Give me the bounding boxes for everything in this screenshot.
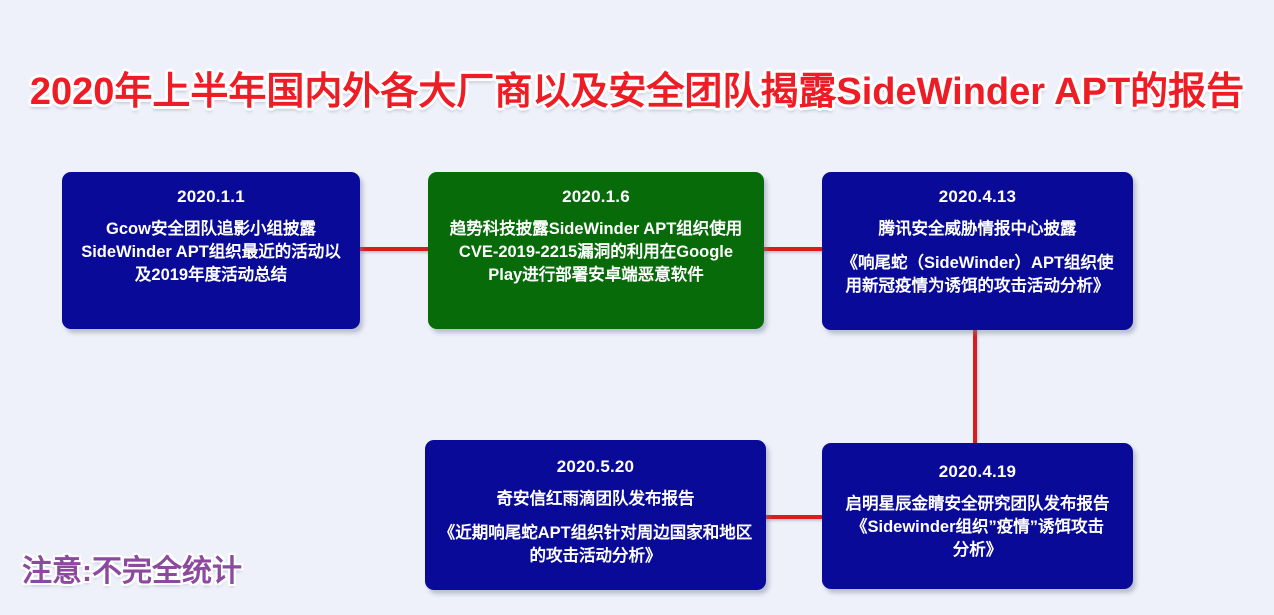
event-card-5[interactable]: 2020.5.20 奇安信红雨滴团队发布报告 《近期响尾蛇APT组织针对周边国家…: [425, 440, 766, 590]
event-spacer-5: [435, 511, 756, 522]
event-line-3-3: 用新冠疫情为诱饵的攻击活动分析》: [846, 277, 1110, 295]
footnote-disclaimer: 注意:不完全统计: [22, 552, 242, 592]
event-spacer-3: [832, 241, 1123, 252]
connector-event2-event3: [762, 247, 830, 251]
event-line-4-1: 启明星辰金睛安全研究团队发布报告: [846, 495, 1110, 513]
event-date-4: 2020.4.19: [832, 461, 1123, 483]
connector-event3-event4: [973, 328, 977, 444]
event-card-1[interactable]: 2020.1.1 Gcow安全团队追影小组披露 SideWinder APT组织…: [62, 172, 360, 329]
event-line-1-1: Gcow安全团队追影小组披露: [106, 220, 316, 238]
event-line-5-3: 的攻击活动分析》: [530, 547, 662, 565]
event-description-4: 启明星辰金睛安全研究团队发布报告 《Sidewinder组织”疫情”诱饵攻击 分…: [832, 493, 1123, 562]
event-description-2: 趋势科技披露SideWinder APT组织使用 CVE-2019-2215漏洞…: [438, 218, 754, 287]
event-date-5: 2020.5.20: [435, 456, 756, 478]
event-line-3-2: 《响尾蛇（SideWinder）APT组织使: [841, 254, 1113, 272]
event-card-4[interactable]: 2020.4.19 启明星辰金睛安全研究团队发布报告 《Sidewinder组织…: [822, 443, 1133, 589]
slide-canvas: 2020年上半年国内外各大厂商以及安全团队揭露SideWinder APT的报告…: [0, 0, 1274, 615]
event-card-3[interactable]: 2020.4.13 腾讯安全威胁情报中心披露 《响尾蛇（SideWinder）A…: [822, 172, 1133, 330]
event-line-2-3: Play进行部署安卓端恶意软件: [488, 266, 703, 284]
event-date-3: 2020.4.13: [832, 186, 1123, 208]
page-title: 2020年上半年国内外各大厂商以及安全团队揭露SideWinder APT的报告: [0, 68, 1274, 116]
event-description-1: Gcow安全团队追影小组披露 SideWinder APT组织最近的活动以 及2…: [72, 218, 350, 287]
event-description-5: 奇安信红雨滴团队发布报告 《近期响尾蛇APT组织针对周边国家和地区 的攻击活动分…: [435, 488, 756, 568]
event-line-5-1: 奇安信红雨滴团队发布报告: [497, 490, 695, 508]
connector-event1-event2: [358, 247, 430, 251]
event-line-2-2: CVE-2019-2215漏洞的利用在Google: [459, 243, 733, 261]
event-line-1-3: 及2019年度活动总结: [135, 266, 287, 284]
event-description-3: 腾讯安全威胁情报中心披露 《响尾蛇（SideWinder）APT组织使 用新冠疫…: [832, 218, 1123, 298]
connector-event4-event5: [762, 515, 824, 519]
event-line-5-2: 《近期响尾蛇APT组织针对周边国家和地区: [439, 524, 753, 542]
event-line-3-1: 腾讯安全威胁情报中心披露: [879, 220, 1077, 238]
event-line-1-2: SideWinder APT组织最近的活动以: [81, 243, 341, 261]
event-line-2-1: 趋势科技披露SideWinder APT组织使用: [450, 220, 743, 238]
event-date-1: 2020.1.1: [72, 186, 350, 208]
event-date-2: 2020.1.6: [438, 186, 754, 208]
event-card-2[interactable]: 2020.1.6 趋势科技披露SideWinder APT组织使用 CVE-20…: [428, 172, 764, 329]
event-line-4-3: 分析》: [953, 541, 1003, 559]
event-line-4-2: 《Sidewinder组织”疫情”诱饵攻击: [851, 518, 1104, 536]
